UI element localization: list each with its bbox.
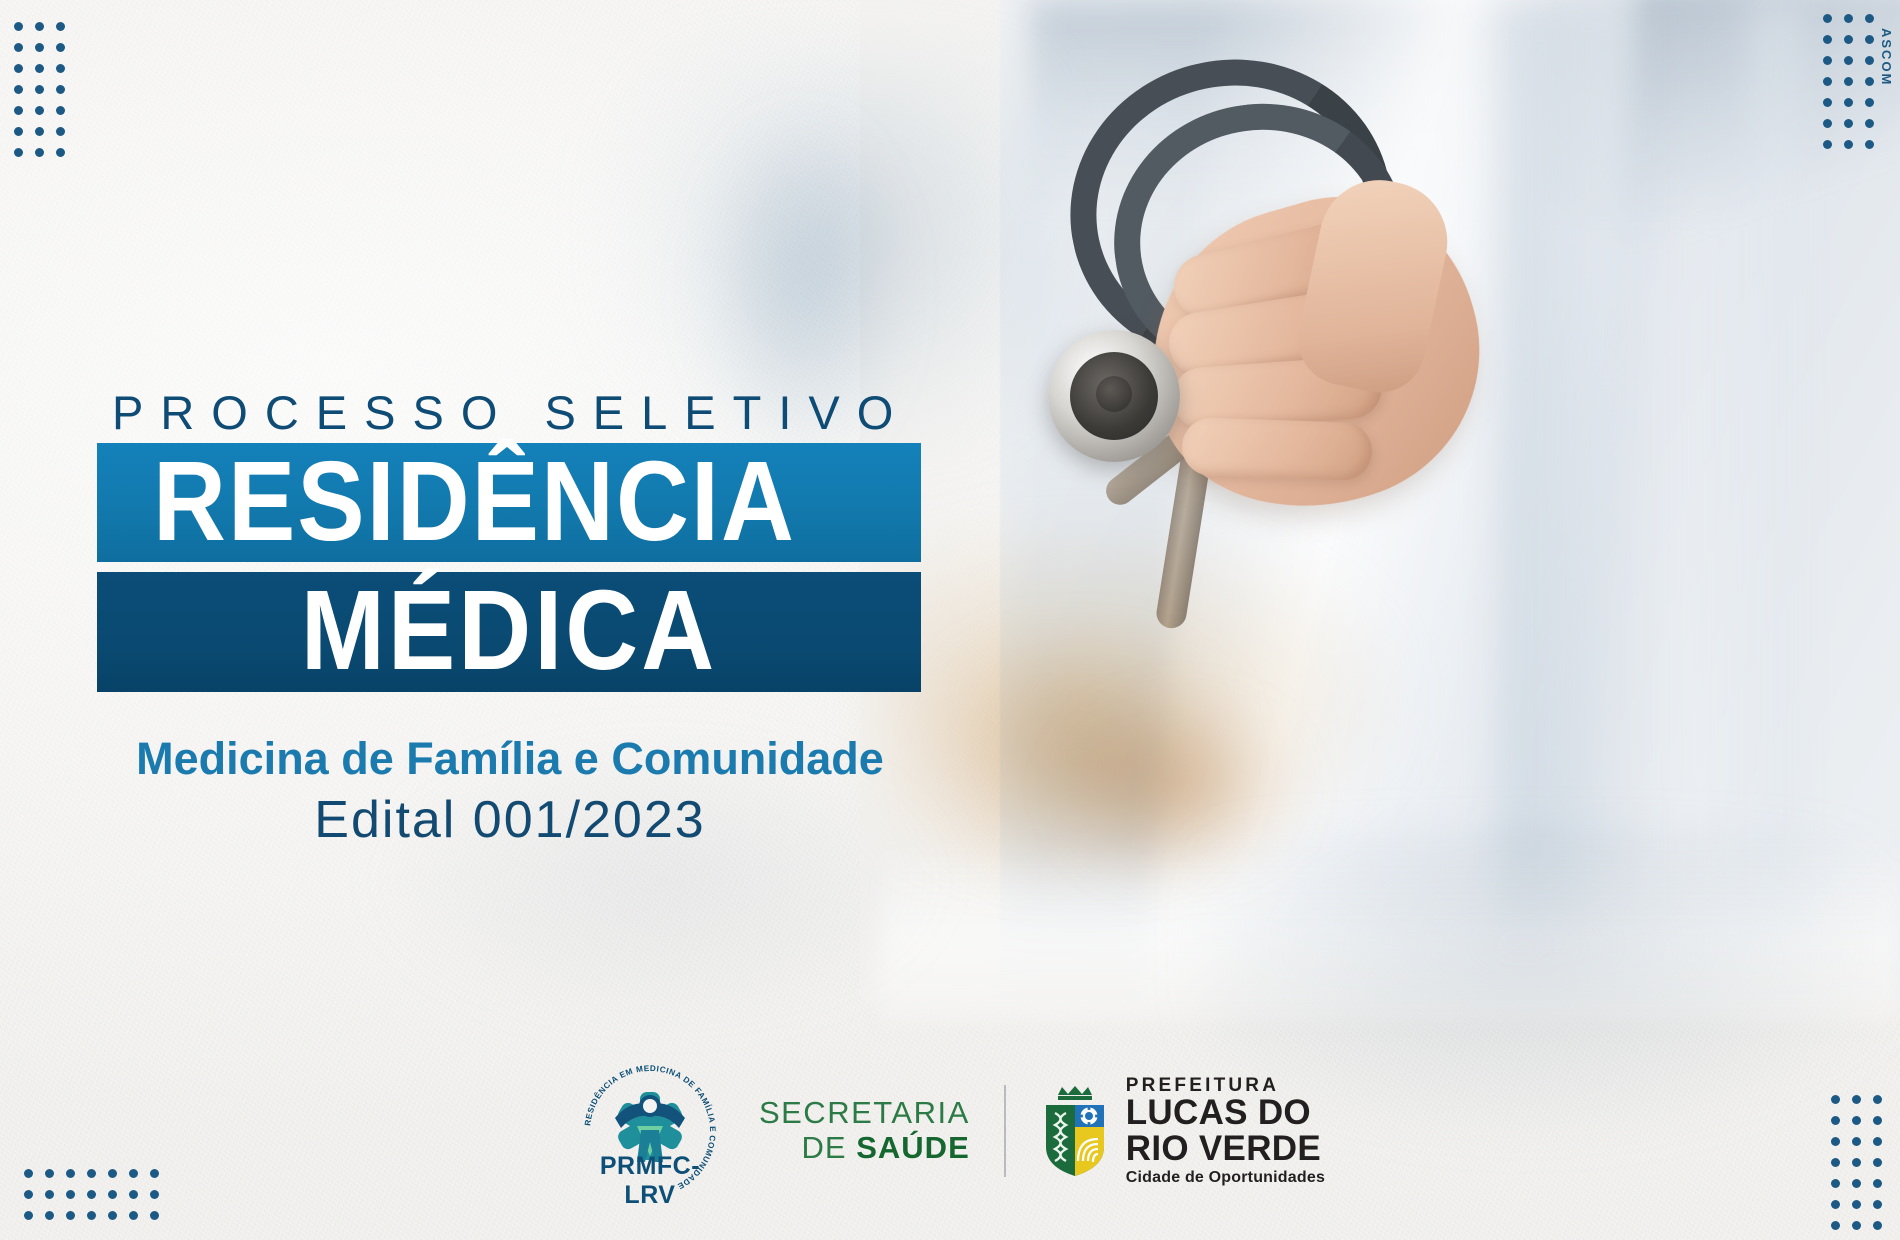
title-bar-medica: MÉDICA xyxy=(97,572,921,692)
secretaria-line-2: DE SAÚDE xyxy=(802,1131,970,1166)
program-name: Medicina de Família e Comunidade xyxy=(0,733,1020,785)
secretaria-de: DE xyxy=(802,1130,857,1165)
prefeitura-tagline: Cidade de Oportunidades xyxy=(1126,1170,1325,1186)
dot-grid-top-right-icon xyxy=(1823,14,1874,149)
logo-divider xyxy=(1004,1085,1006,1177)
dot-grid-top-left-icon xyxy=(14,22,65,157)
prefeitura-text: PREFEITURA LUCAS DO RIO VERDE Cidade de … xyxy=(1126,1076,1325,1186)
prmfc-acronym: PRMFC-LRV xyxy=(575,1152,725,1210)
promotional-banner: ASCOM PROCESSO SELETIVO RESIDÊNCIA MÉDIC… xyxy=(0,0,1900,1240)
prefeitura-city-line-2: RIO VERDE xyxy=(1126,1131,1325,1167)
secretaria-saude-logo: SECRETARIA DE SAÚDE xyxy=(759,1096,970,1165)
stethoscope-chestpiece xyxy=(1048,330,1180,462)
prmfc-logo: PROGRAMA DE RESIDÊNCIA EM MEDICINA DE FA… xyxy=(575,1056,725,1206)
prefeitura-city-line-1: LUCAS DO xyxy=(1126,1095,1325,1131)
finger-little xyxy=(1181,417,1373,482)
prefeitura-shield-icon xyxy=(1040,1083,1110,1179)
coat-of-arms-icon xyxy=(1040,1083,1110,1179)
prefeitura-logo: PREFEITURA LUCAS DO RIO VERDE Cidade de … xyxy=(1040,1076,1325,1186)
stethoscope-bell xyxy=(1096,376,1132,412)
secretaria-saude: SAÚDE xyxy=(856,1130,970,1165)
edital-number: Edital 001/2023 xyxy=(0,790,1020,850)
ascom-watermark: ASCOM xyxy=(1879,28,1894,86)
title-bar-residencia: RESIDÊNCIA xyxy=(97,443,921,562)
title-line-1: RESIDÊNCIA xyxy=(153,449,796,556)
footer-logos: PROGRAMA DE RESIDÊNCIA EM MEDICINA DE FA… xyxy=(0,1056,1900,1206)
secretaria-line-1: SECRETARIA xyxy=(759,1096,970,1131)
title-line-2: MÉDICA xyxy=(301,578,717,685)
eyebrow-text: PROCESSO SELETIVO xyxy=(112,385,910,440)
